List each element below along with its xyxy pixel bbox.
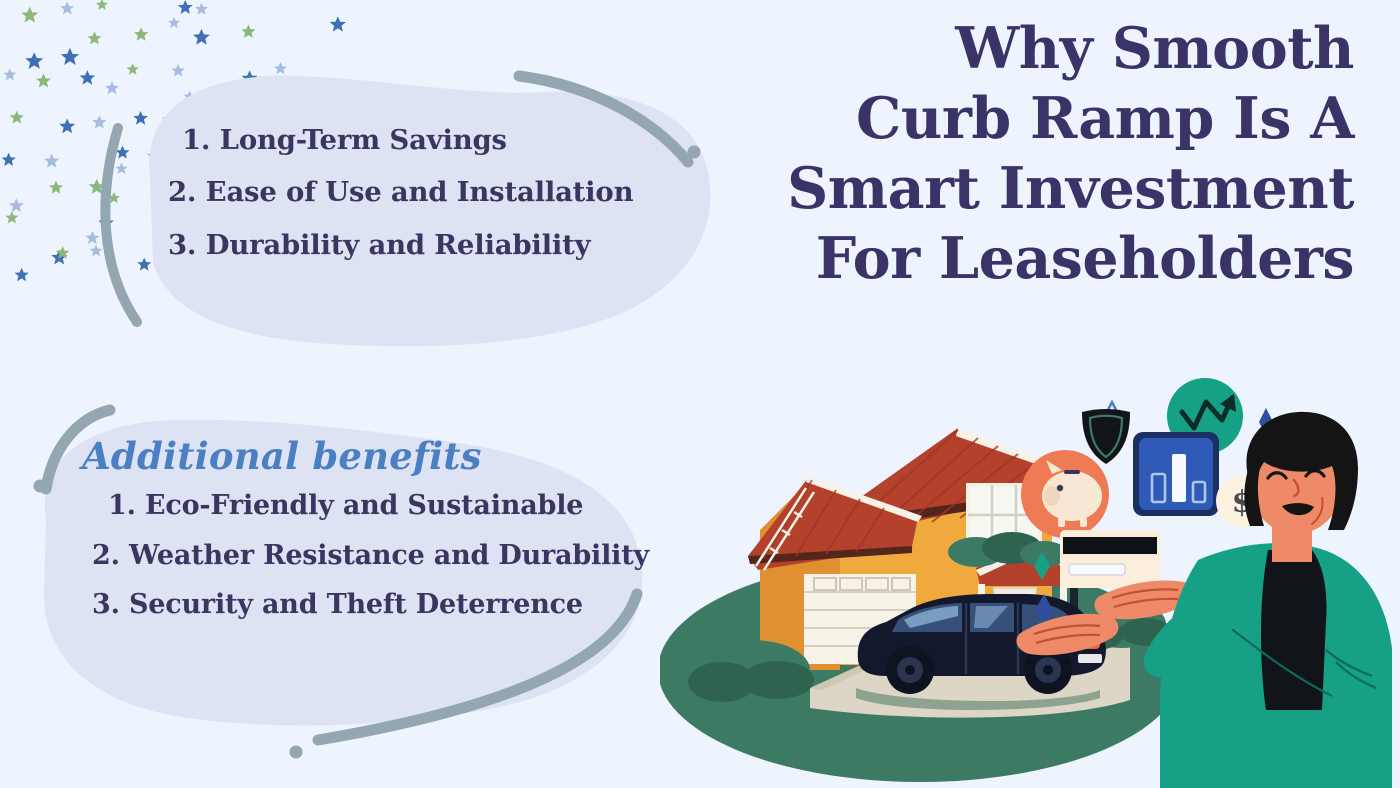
title-line: Smart Investment xyxy=(744,154,1354,224)
arc-left-upper xyxy=(105,128,137,322)
additional-benefits-list: 1. Eco-Friendly and Sustainable 2. Weath… xyxy=(92,488,652,637)
page-title: Why Smooth Curb Ramp Is A Smart Investme… xyxy=(744,14,1354,294)
arc-dot-lower-right xyxy=(290,746,303,759)
arc-dot-top-right xyxy=(688,146,701,159)
title-line: For Leaseholders xyxy=(744,224,1354,294)
house-and-investor-illustration: $ xyxy=(660,370,1400,788)
title-line: Why Smooth xyxy=(744,14,1354,84)
primary-benefits-list: 1. Long-Term Savings 2. Ease of Use and … xyxy=(168,122,668,279)
piggy-bank-icon xyxy=(1021,450,1109,538)
infographic-canvas: Why Smooth Curb Ramp Is A Smart Investme… xyxy=(0,0,1400,788)
arc-dot-lower-left xyxy=(34,480,47,493)
bar-chart-icon xyxy=(1133,432,1219,516)
title-line: Curb Ramp Is A xyxy=(744,84,1354,154)
credit-card-icon xyxy=(1060,530,1160,588)
list-item: 1. Eco-Friendly and Sustainable xyxy=(108,488,652,524)
list-item: 2. Ease of Use and Installation xyxy=(168,174,668,210)
list-item: 3. Durability and Reliability xyxy=(168,227,668,263)
list-item: 2. Weather Resistance and Durability xyxy=(92,538,652,574)
person-inner-top xyxy=(1261,550,1326,710)
shield-icon xyxy=(1082,409,1130,464)
additional-benefits-heading: Additional benefits xyxy=(82,434,482,478)
car-wheel-front xyxy=(886,646,934,694)
list-item: 3. Security and Theft Deterrence xyxy=(92,587,652,623)
list-item: 1. Long-Term Savings xyxy=(182,122,668,158)
car-license-plate xyxy=(1078,654,1102,663)
